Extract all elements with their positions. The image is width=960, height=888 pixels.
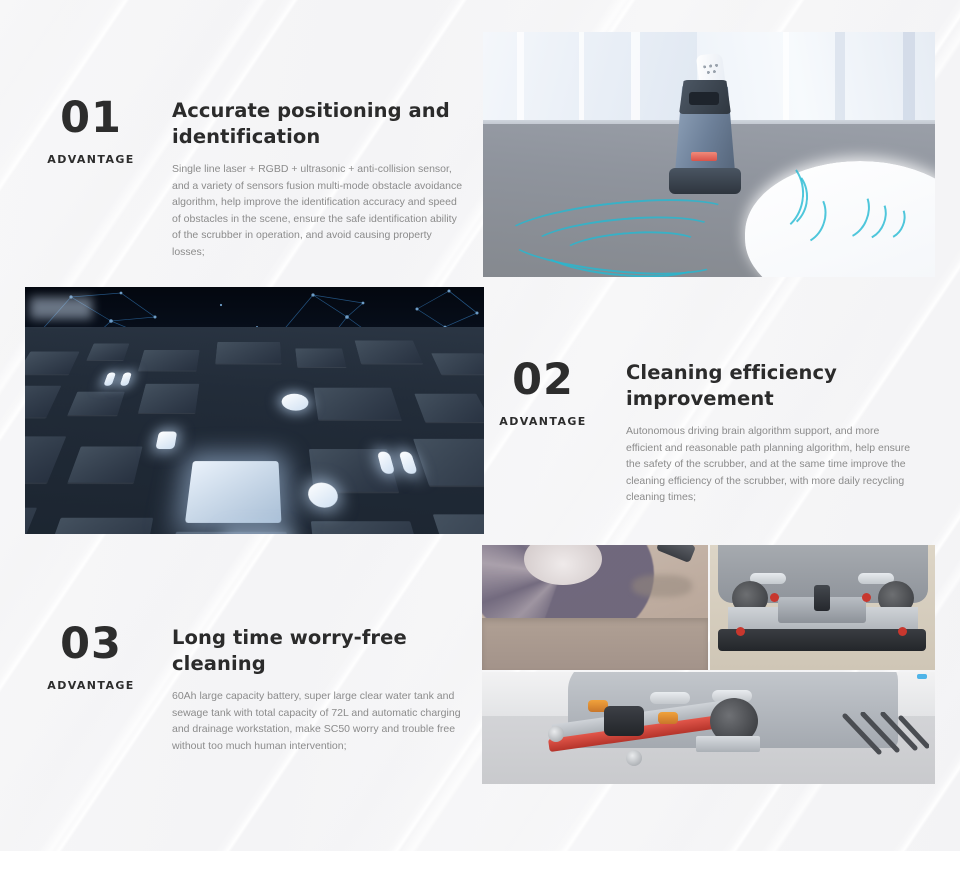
- advantage-02-body: Autonomous driving brain algorithm suppo…: [626, 423, 918, 506]
- advantage-02-headline: Cleaning efficiency improvement: [626, 360, 918, 412]
- advantage-01-headline: Accurate positioning and identification: [172, 98, 464, 150]
- advantage-02-text: Cleaning efficiency improvement Autonomo…: [626, 360, 918, 506]
- advantage-01-number-column: 01 ADVANTAGE: [31, 96, 151, 166]
- advantage-03-headline: Long time worry-free cleaning: [172, 625, 464, 677]
- advantage-03-label: ADVANTAGE: [31, 679, 151, 692]
- squeegee-sideview-panel: [482, 672, 935, 784]
- deck-frontview-panel: [710, 545, 935, 670]
- advantage-02-number: 02: [483, 358, 603, 402]
- advantage-02-number-column: 02 ADVANTAGE: [483, 358, 603, 428]
- advantage-01-body: Single line laser + RGBD + ultrasonic + …: [172, 161, 464, 260]
- circuit-board-surface: [25, 327, 484, 534]
- cpu-core-chip: [185, 461, 282, 523]
- advantage-03-number: 03: [31, 622, 151, 666]
- robot-scrubber: [669, 80, 741, 190]
- advantage-03-image: [482, 545, 935, 784]
- advantage-02-label: ADVANTAGE: [483, 415, 603, 428]
- advantage-03-text: Long time worry-free cleaning 60Ah large…: [172, 625, 464, 754]
- image-blur-patch: [30, 297, 92, 319]
- advantage-02-image: [25, 287, 484, 534]
- rear-brush-strips-graphic: [837, 712, 929, 760]
- advantage-01-text: Accurate positioning and identification …: [172, 98, 464, 260]
- advantage-01-number: 01: [31, 96, 151, 140]
- advantage-01-image: [483, 32, 935, 277]
- brush-closeup-panel: [482, 545, 708, 670]
- advantage-01-label: ADVANTAGE: [31, 153, 151, 166]
- advantage-03-number-column: 03 ADVANTAGE: [31, 622, 151, 692]
- advantage-03-body: 60Ah large capacity battery, super large…: [172, 688, 464, 754]
